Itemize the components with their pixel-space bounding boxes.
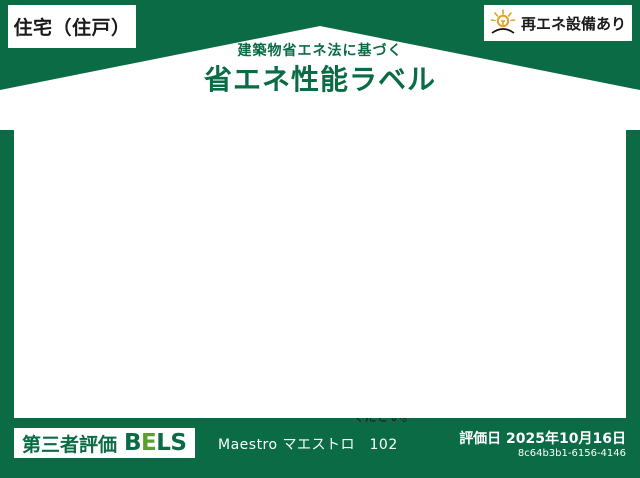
label-body-card bbox=[14, 100, 626, 418]
label-title: 省エネ性能ラベル bbox=[0, 58, 640, 98]
housing-type-badge: 住宅（住戸） bbox=[8, 5, 136, 48]
bels-letter-e: E bbox=[141, 430, 156, 456]
bels-letter-b: B bbox=[124, 430, 141, 456]
renewable-equipment-badge: 再エネ設備あり bbox=[484, 5, 632, 41]
housing-type-text: 住宅（住戸） bbox=[13, 13, 130, 40]
bels-wordmark: BELS bbox=[124, 430, 186, 456]
renewable-equipment-text: 再エネ設備あり bbox=[521, 13, 626, 34]
property-name: Maestro マエストロ 102 bbox=[218, 434, 398, 454]
bels-third-party-text: 第三者評価 bbox=[22, 430, 117, 457]
energy-performance-label: 住宅（住戸） 再エネ設備あり 建築物省エネ法に基づく 省エネ性能ラベル エネルギ… bbox=[0, 0, 640, 478]
label-footer: 第三者評価 BELS Maestro マエストロ 102 評価日 2025年10… bbox=[0, 422, 640, 478]
evaluation-date: 評価日 2025年10月16日 bbox=[459, 428, 626, 448]
bels-letters-ls: LS bbox=[156, 430, 186, 456]
bels-logo: 第三者評価 BELS bbox=[14, 428, 195, 458]
evaluation-id: 8c64b3b1-6156-4146 bbox=[518, 448, 626, 459]
sun-bulb-icon bbox=[488, 8, 518, 38]
